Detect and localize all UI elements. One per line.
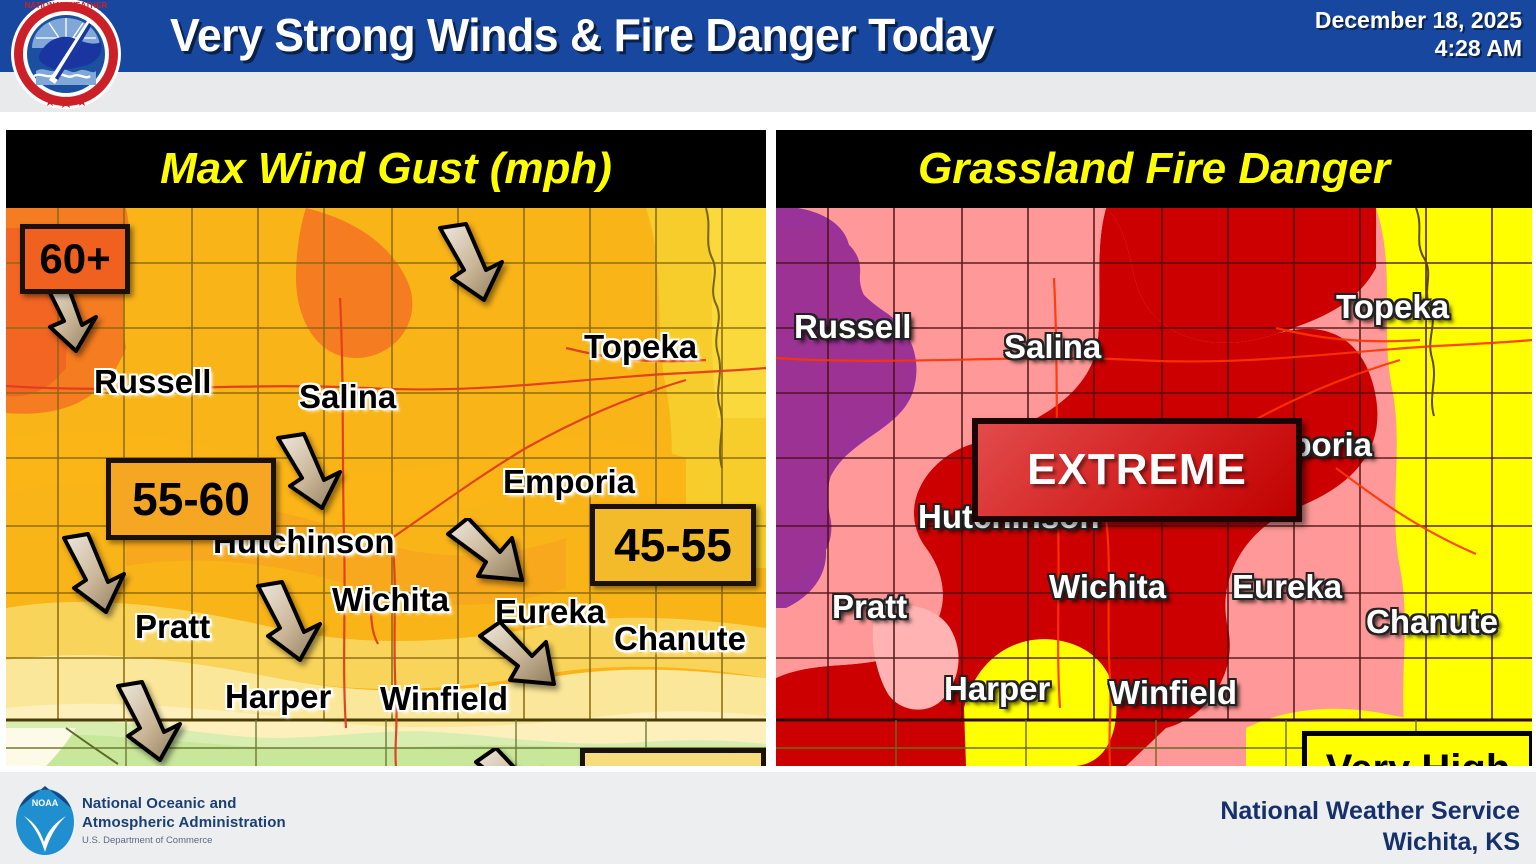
wind-arrow-icon bbox=[444, 518, 532, 592]
panel-right-title: Grassland Fire Danger bbox=[776, 130, 1532, 208]
nws-logo-icon: NATIONAL WEATHER bbox=[6, 0, 126, 112]
wind-arrow-icon bbox=[476, 622, 564, 696]
svg-text:NOAA: NOAA bbox=[32, 798, 59, 808]
wind-arrow-icon bbox=[430, 222, 512, 304]
callout-40-50[interactable]: 40-50 bbox=[580, 748, 766, 766]
wind-arrow-icon bbox=[472, 748, 560, 766]
panel-grassland-fire-danger: Grassland Fire Danger bbox=[776, 130, 1532, 766]
wind-arrow-icon bbox=[270, 432, 348, 512]
wind-gust-map[interactable]: Russell Salina Topeka Emporia Hutchinson… bbox=[6, 208, 766, 766]
page-title: Very Strong Winds & Fire Danger Today bbox=[170, 8, 994, 62]
noaa-text-block: National Oceanic and Atmospheric Adminis… bbox=[82, 794, 286, 846]
callout-60-plus[interactable]: 60+ bbox=[20, 224, 130, 294]
wind-arrow-icon bbox=[56, 532, 132, 616]
noaa-line-1: National Oceanic and bbox=[82, 794, 286, 813]
svg-text:NATIONAL WEATHER: NATIONAL WEATHER bbox=[25, 1, 108, 10]
wind-arrow-icon bbox=[110, 680, 188, 764]
header-gray-band bbox=[0, 72, 1536, 112]
callout-45-55[interactable]: 45-55 bbox=[590, 504, 756, 586]
callout-55-60[interactable]: 55-60 bbox=[106, 458, 276, 540]
header-date: December 18, 2025 bbox=[1315, 6, 1522, 34]
panel-max-wind-gust: Max Wind Gust (mph) bbox=[6, 130, 766, 766]
office-name: National Weather Service bbox=[1220, 796, 1520, 827]
fire-danger-map[interactable]: Russell Salina Topeka Emporia Hutchinson… bbox=[776, 208, 1532, 766]
callout-very-high[interactable]: Very High bbox=[1302, 731, 1532, 766]
panel-left-title: Max Wind Gust (mph) bbox=[6, 130, 766, 208]
office-location: Wichita, KS bbox=[1220, 827, 1520, 858]
callout-extreme[interactable]: EXTREME bbox=[972, 418, 1302, 522]
wind-arrow-icon bbox=[250, 580, 328, 664]
header-datetime: December 18, 2025 4:28 AM bbox=[1315, 6, 1522, 62]
noaa-logo-icon: NOAA bbox=[14, 780, 76, 861]
noaa-department: U.S. Department of Commerce bbox=[82, 835, 286, 846]
footer-bar: NOAA National Oceanic and Atmospheric Ad… bbox=[0, 772, 1536, 864]
noaa-line-2: Atmospheric Administration bbox=[82, 813, 286, 832]
header-time: 4:28 AM bbox=[1315, 34, 1522, 62]
office-identifier: National Weather Service Wichita, KS bbox=[1220, 796, 1520, 857]
